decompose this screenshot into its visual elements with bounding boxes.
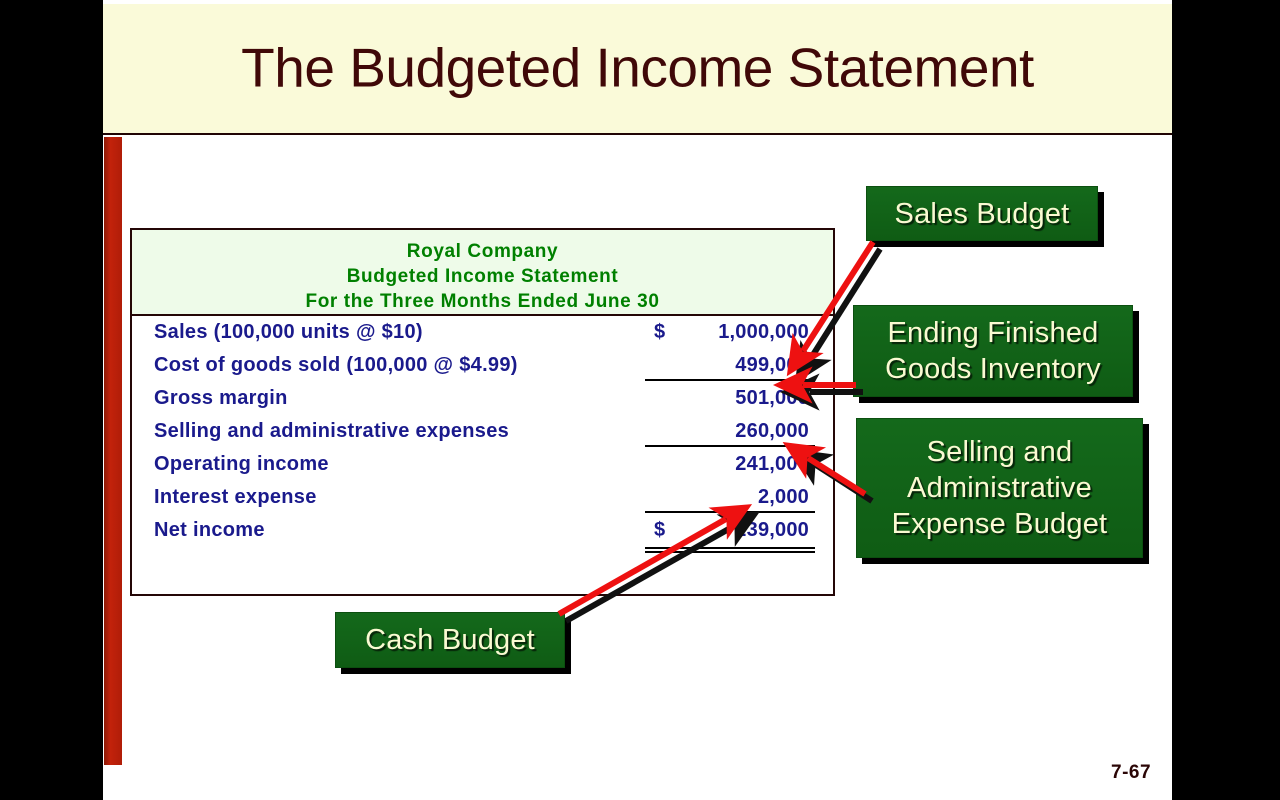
page-title: The Budgeted Income Statement — [103, 35, 1172, 99]
row-amount: 1,000,000 — [657, 316, 809, 349]
row-label: Gross margin — [154, 382, 288, 415]
statement-report-period: For the Three Months Ended June 30 — [132, 289, 833, 314]
row-label: Selling and administrative expenses — [154, 415, 509, 448]
statement-body: Sales (100,000 units @ $10) $ 1,000,000 … — [132, 316, 833, 594]
table-row: Net income $ 239,000 — [132, 514, 833, 547]
row-amount: 239,000 — [657, 514, 809, 547]
row-label: Sales (100,000 units @ $10) — [154, 316, 423, 349]
table-row: Selling and administrative expenses 260,… — [132, 415, 833, 448]
row-label: Interest expense — [154, 481, 317, 514]
statement-header: Royal Company Budgeted Income Statement … — [132, 230, 833, 316]
statement-company-name: Royal Company — [132, 239, 833, 264]
callout-cash-budget[interactable]: Cash Budget — [335, 612, 565, 668]
callout-ending-finished-goods-inventory-label: Ending Finished Goods Inventory — [885, 315, 1101, 387]
table-row: Interest expense 2,000 — [132, 481, 833, 514]
row-amount: 499,000 — [657, 349, 809, 382]
callout-ending-finished-goods-inventory[interactable]: Ending Finished Goods Inventory — [853, 305, 1133, 397]
row-amount: 2,000 — [657, 481, 809, 514]
slide-canvas: The Budgeted Income Statement Royal Comp… — [103, 0, 1172, 800]
row-amount: 501,000 — [657, 382, 809, 415]
row-label: Operating income — [154, 448, 329, 481]
table-row: Cost of goods sold (100,000 @ $4.99) 499… — [132, 349, 833, 382]
callout-sales-budget-label: Sales Budget — [895, 196, 1070, 232]
table-row: Operating income 241,000 — [132, 448, 833, 481]
callout-selling-administrative-expense-budget[interactable]: Selling and Administrative Expense Budge… — [856, 418, 1143, 558]
presentation-slide: The Budgeted Income Statement Royal Comp… — [0, 0, 1280, 800]
slide-number: 7-67 — [1111, 762, 1151, 784]
row-amount: 260,000 — [657, 415, 809, 448]
callout-sales-budget[interactable]: Sales Budget — [866, 186, 1098, 241]
table-row: Sales (100,000 units @ $10) $ 1,000,000 — [132, 316, 833, 349]
left-accent-bar — [104, 137, 122, 765]
row-label: Cost of goods sold (100,000 @ $4.99) — [154, 349, 518, 382]
callout-selling-administrative-expense-budget-label: Selling and Administrative Expense Budge… — [892, 434, 1108, 542]
row-label: Net income — [154, 514, 265, 547]
slide-title-band: The Budgeted Income Statement — [103, 4, 1172, 135]
table-row: Gross margin 501,000 — [132, 382, 833, 415]
row-amount: 241,000 — [657, 448, 809, 481]
callout-cash-budget-label: Cash Budget — [365, 622, 535, 658]
budgeted-income-statement-table: Royal Company Budgeted Income Statement … — [130, 228, 835, 596]
statement-report-title: Budgeted Income Statement — [132, 264, 833, 289]
